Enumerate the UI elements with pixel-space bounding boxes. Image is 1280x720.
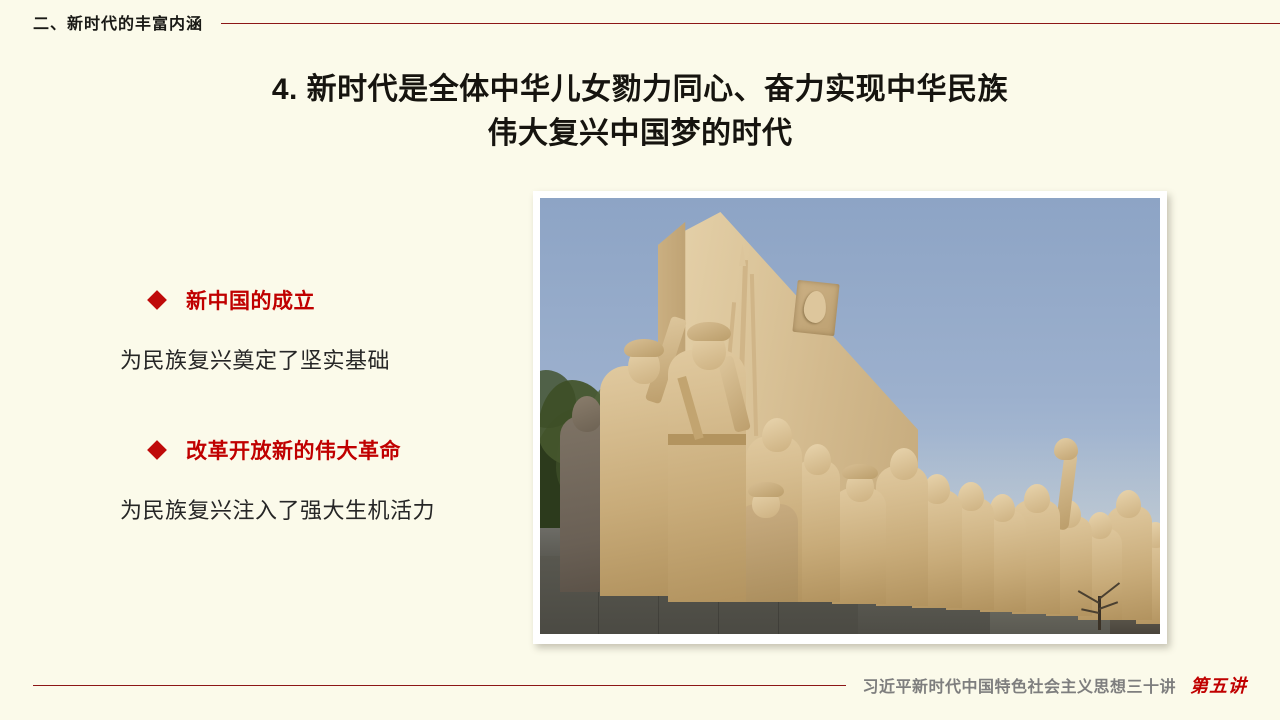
relief-portrait-panel bbox=[792, 280, 839, 336]
page-title-line-1: 4. 新时代是全体中华儿女勠力同心、奋力实现中华民族 bbox=[0, 68, 1280, 112]
bare-tree-branch bbox=[1099, 601, 1118, 610]
section-header-label: 二、新时代的丰富内涵 bbox=[33, 10, 203, 34]
statue-figure-cap bbox=[842, 464, 878, 479]
header-divider-rule bbox=[221, 23, 1280, 24]
statue-figure bbox=[600, 366, 674, 596]
statue-figure-head bbox=[1116, 490, 1141, 518]
relief-portrait-face bbox=[802, 290, 827, 324]
statue-figure-cap bbox=[748, 482, 784, 497]
page-title: 4. 新时代是全体中华儿女勠力同心、奋力实现中华民族 伟大复兴中国梦的时代 bbox=[0, 68, 1280, 156]
statue-figure-head bbox=[890, 448, 918, 480]
bullet-item-1-body: 为民族复兴奠定了坚实基础 bbox=[120, 343, 540, 375]
statue-figure-head bbox=[572, 396, 602, 432]
bullet-item-1-heading: 新中国的成立 bbox=[186, 285, 315, 315]
footer-lecture-label: 第五讲 bbox=[1190, 672, 1247, 698]
bare-tree bbox=[1054, 574, 1150, 630]
statue-figure-cap bbox=[624, 339, 664, 357]
bare-tree-branch bbox=[1081, 608, 1099, 614]
statue-figure-head bbox=[804, 444, 831, 475]
bullet-list: 新中国的成立 为民族复兴奠定了坚实基础 改革开放新的伟大革命 为民族复兴注入了强… bbox=[120, 285, 540, 525]
page-title-line-2: 伟大复兴中国梦的时代 bbox=[0, 112, 1280, 156]
bullet-item-2-body: 为民族复兴注入了强大生机活力 bbox=[120, 493, 540, 525]
bullet-item-2: 改革开放新的伟大革命 为民族复兴注入了强大生机活力 bbox=[120, 435, 540, 525]
footer: 习近平新时代中国特色社会主义思想三十讲 第五讲 bbox=[33, 672, 1247, 698]
bare-tree-branch bbox=[1078, 590, 1100, 604]
bullet-item-2-head: 改革开放新的伟大革命 bbox=[120, 435, 540, 465]
statue-figure bbox=[832, 488, 886, 604]
section-header: 二、新时代的丰富内涵 bbox=[33, 10, 1280, 34]
footer-series-title: 习近平新时代中国特色社会主义思想三十讲 bbox=[862, 673, 1176, 697]
statue-figure-head bbox=[1024, 484, 1050, 513]
statue-figure-belt bbox=[668, 434, 746, 445]
statue-figure-cap bbox=[687, 322, 731, 341]
statue-figure-head bbox=[762, 418, 792, 452]
bullet-item-1-head: 新中国的成立 bbox=[120, 285, 540, 315]
slide-canvas: 二、新时代的丰富内涵 4. 新时代是全体中华儿女勠力同心、奋力实现中华民族 伟大… bbox=[0, 0, 1280, 720]
raised-fist bbox=[1054, 438, 1078, 460]
bullet-item-1: 新中国的成立 为民族复兴奠定了坚实基础 bbox=[120, 285, 540, 375]
diamond-bullet-icon bbox=[147, 290, 167, 310]
bullet-item-2-heading: 改革开放新的伟大革命 bbox=[186, 435, 401, 465]
diamond-bullet-icon bbox=[147, 440, 167, 460]
bare-tree-branch bbox=[1098, 582, 1120, 600]
revolutionary-heroes-monument-photo bbox=[540, 198, 1160, 634]
photo-frame bbox=[533, 191, 1167, 644]
footer-divider-rule bbox=[33, 685, 846, 686]
